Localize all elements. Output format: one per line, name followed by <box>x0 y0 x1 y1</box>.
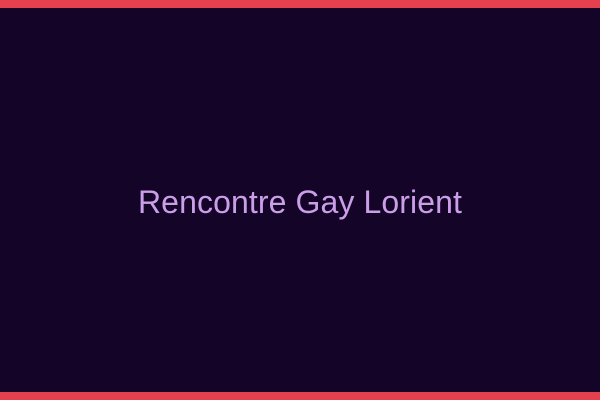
placeholder-banner: Rencontre Gay Lorient <box>0 0 600 400</box>
bottom-accent-bar <box>0 392 600 400</box>
banner-content-area: Rencontre Gay Lorient <box>0 8 600 392</box>
top-accent-bar <box>0 0 600 8</box>
banner-title: Rencontre Gay Lorient <box>138 186 462 218</box>
banner-title-container: Rencontre Gay Lorient <box>0 186 600 218</box>
